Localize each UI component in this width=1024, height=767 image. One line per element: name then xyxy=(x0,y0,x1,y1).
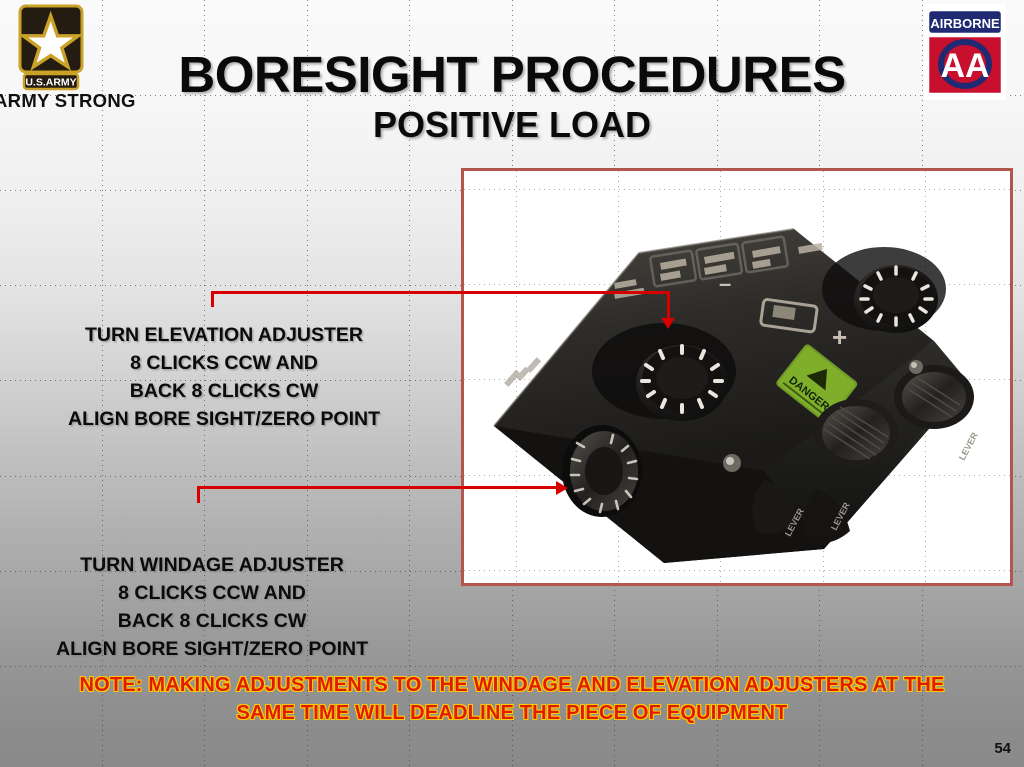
callout-windage-line-2: 8 CLICKS CCW AND xyxy=(12,580,412,608)
polarity-plus-label: + xyxy=(832,322,847,352)
callout-elevation-line-2: 8 CLICKS CCW AND xyxy=(24,350,424,378)
windage-leader-stub xyxy=(197,486,200,503)
warning-note-line-2: SAME TIME WILL DEADLINE THE PIECE OF EQU… xyxy=(0,700,1024,728)
elevation-leader-stub xyxy=(211,291,214,307)
callout-elevation-line-1: TURN ELEVATION ADJUSTER xyxy=(24,322,424,350)
callout-windage-line-1: TURN WINDAGE ADJUSTER xyxy=(12,552,412,580)
device-photo: – + xyxy=(464,171,1010,583)
polarity-minus-label: – xyxy=(719,271,731,296)
slide-canvas: U.S.ARMY ARMY STRONG AIRBORNE AA BORESIG… xyxy=(0,0,1024,767)
device-photo-frame: – + xyxy=(461,168,1013,586)
rear-adjuster-knob xyxy=(854,265,938,333)
callout-elevation-line-4: ALIGN BORE SIGHT/ZERO POINT xyxy=(24,406,424,434)
elevation-adjuster-knob xyxy=(636,345,728,421)
warning-note: NOTE: MAKING ADJUSTMENTS TO THE WINDAGE … xyxy=(0,672,1024,727)
callout-windage-line-4: ALIGN BORE SIGHT/ZERO POINT xyxy=(12,636,412,664)
callout-elevation-line-3: BACK 8 CLICKS CW xyxy=(24,378,424,406)
windage-adjuster-knob xyxy=(562,425,642,517)
callout-elevation: TURN ELEVATION ADJUSTER 8 CLICKS CCW AND… xyxy=(24,322,424,434)
windage-leader-horizontal xyxy=(197,486,559,489)
airborne-tab-text: AIRBORNE xyxy=(930,16,1000,31)
elevation-arrowhead-icon xyxy=(661,318,675,329)
page-number: 54 xyxy=(994,740,1011,757)
svg-text:LEVER: LEVER xyxy=(957,430,980,462)
elevation-leader-horizontal xyxy=(211,291,670,294)
callout-windage-line-3: BACK 8 CLICKS CW xyxy=(12,608,412,636)
peq15-device-illustration: – + xyxy=(464,171,1013,586)
page-title: BORESIGHT PROCEDURES xyxy=(0,45,1024,104)
page-subtitle: POSITIVE LOAD xyxy=(0,104,1024,146)
callout-windage: TURN WINDAGE ADJUSTER 8 CLICKS CCW AND B… xyxy=(12,552,412,664)
windage-arrowhead-icon xyxy=(556,481,568,495)
warning-note-line-1: NOTE: MAKING ADJUSTMENTS TO THE WINDAGE … xyxy=(0,672,1024,700)
